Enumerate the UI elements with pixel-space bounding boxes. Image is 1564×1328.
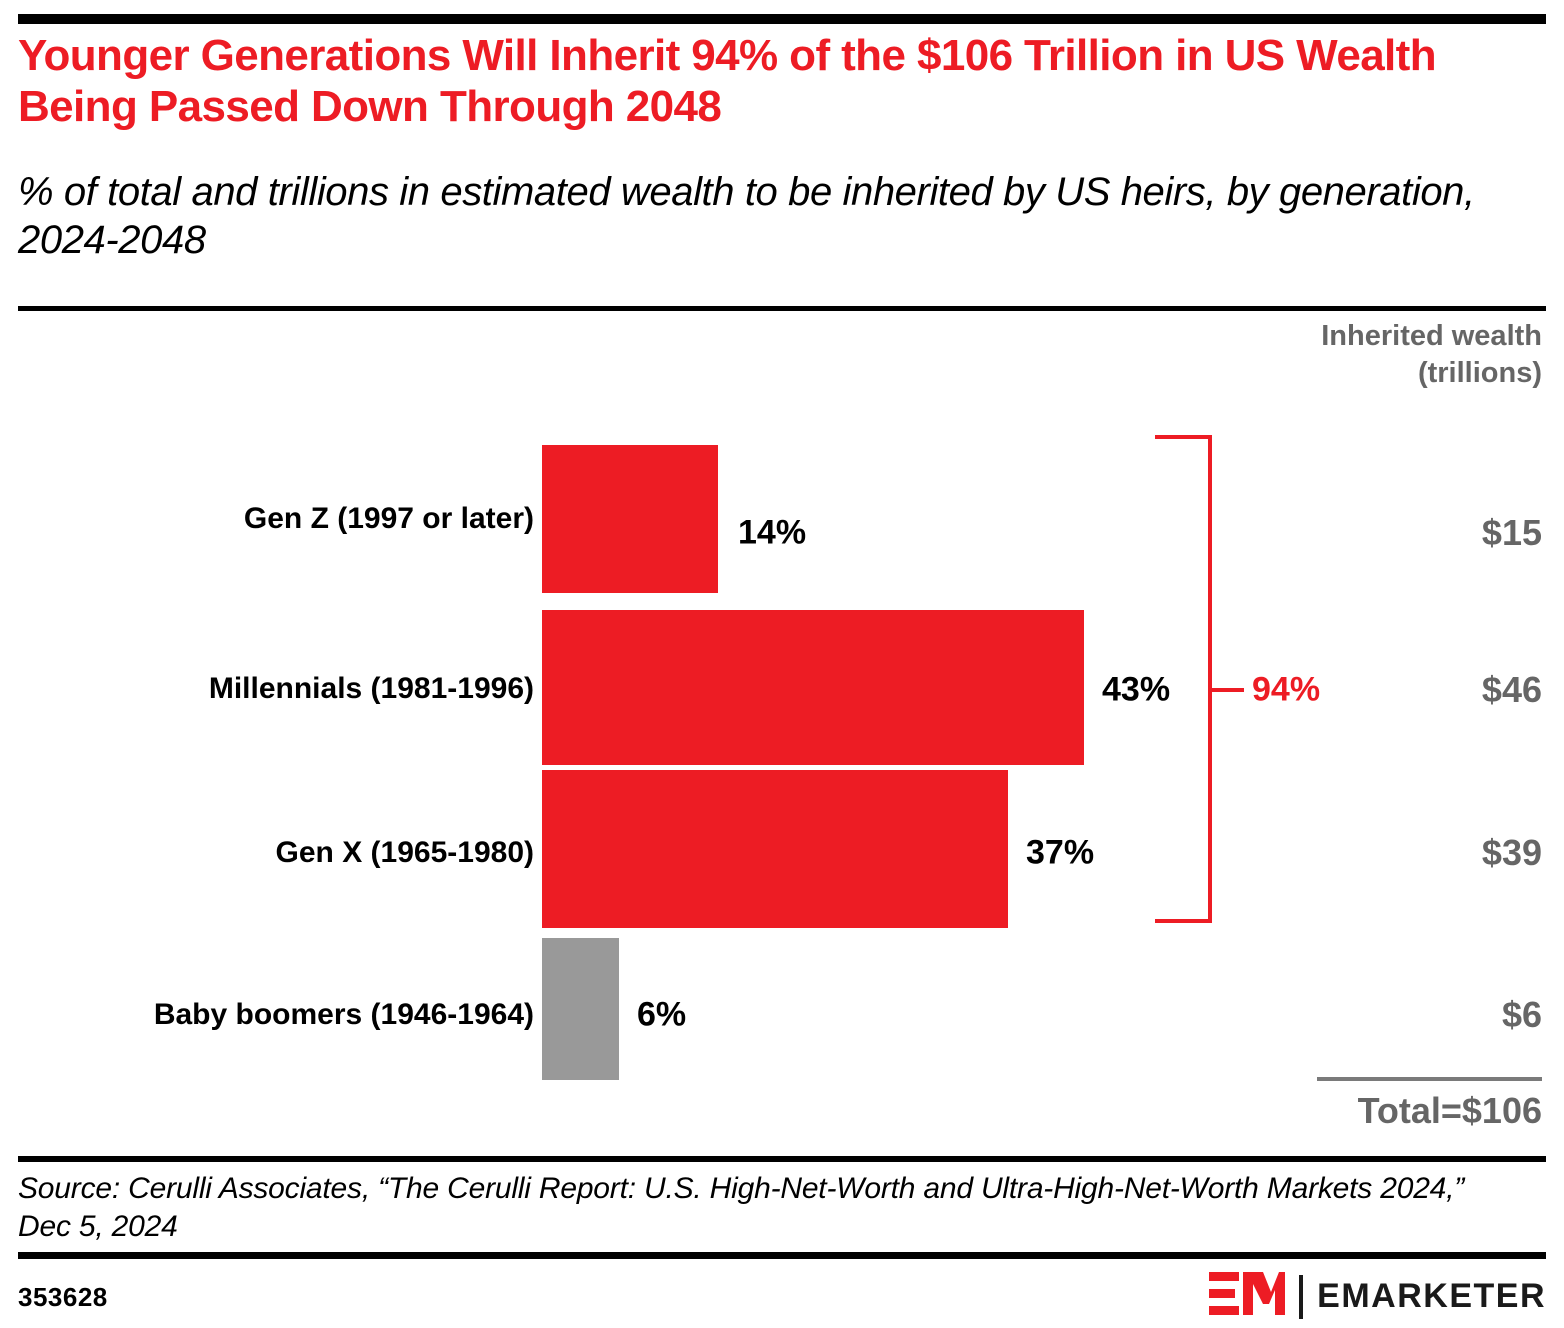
- bar-baby-boomers: [542, 938, 619, 1080]
- total-divider: [1317, 1077, 1542, 1081]
- category-label-baby-boomers: Baby boomers (1946-1964): [154, 998, 542, 1032]
- logo-divider: [1299, 1275, 1303, 1319]
- wealth-value-baby-boomers: $6: [1302, 994, 1542, 1036]
- wealth-value-millennials: $46: [1302, 669, 1542, 711]
- bar-value-baby-boomers: 6%: [637, 996, 686, 1035]
- category-label-gen-x: Gen X (1965-1980): [276, 836, 542, 870]
- emarketer-logo: EMARKETER: [1209, 1270, 1546, 1323]
- chart-canvas: Younger Generations Will Inherit 94% of …: [0, 0, 1564, 1328]
- bar-gen-x: [542, 770, 1008, 928]
- category-label-gen-z: Gen Z (1997 or later): [244, 502, 542, 536]
- total-label: Total=$106: [1302, 1090, 1542, 1132]
- bracket-stub: [1212, 688, 1244, 692]
- em-monogram-icon: [1209, 1270, 1285, 1323]
- source-rule: [18, 1156, 1546, 1162]
- footer-rule: [18, 1252, 1546, 1259]
- bar-millennials: [542, 610, 1084, 765]
- wealth-value-gen-z: $15: [1302, 512, 1542, 554]
- bar-value-gen-x: 37%: [1026, 834, 1094, 873]
- bracket-annotation: [1155, 435, 1212, 923]
- category-label-millennials: Millennials (1981-1996): [209, 672, 542, 706]
- bar-gen-z: [542, 445, 718, 593]
- bar-chart-plot: Gen Z (1997 or later) 14% $15 Millennial…: [0, 0, 1564, 1328]
- wealth-value-gen-x: $39: [1302, 832, 1542, 874]
- logo-wordmark: EMARKETER: [1317, 1277, 1546, 1316]
- chart-id: 353628: [18, 1282, 108, 1313]
- bar-value-gen-z: 14%: [738, 514, 806, 553]
- source-note: Source: Cerulli Associates, “The Cerulli…: [18, 1170, 1518, 1247]
- bracket-value-label: 94%: [1252, 671, 1320, 710]
